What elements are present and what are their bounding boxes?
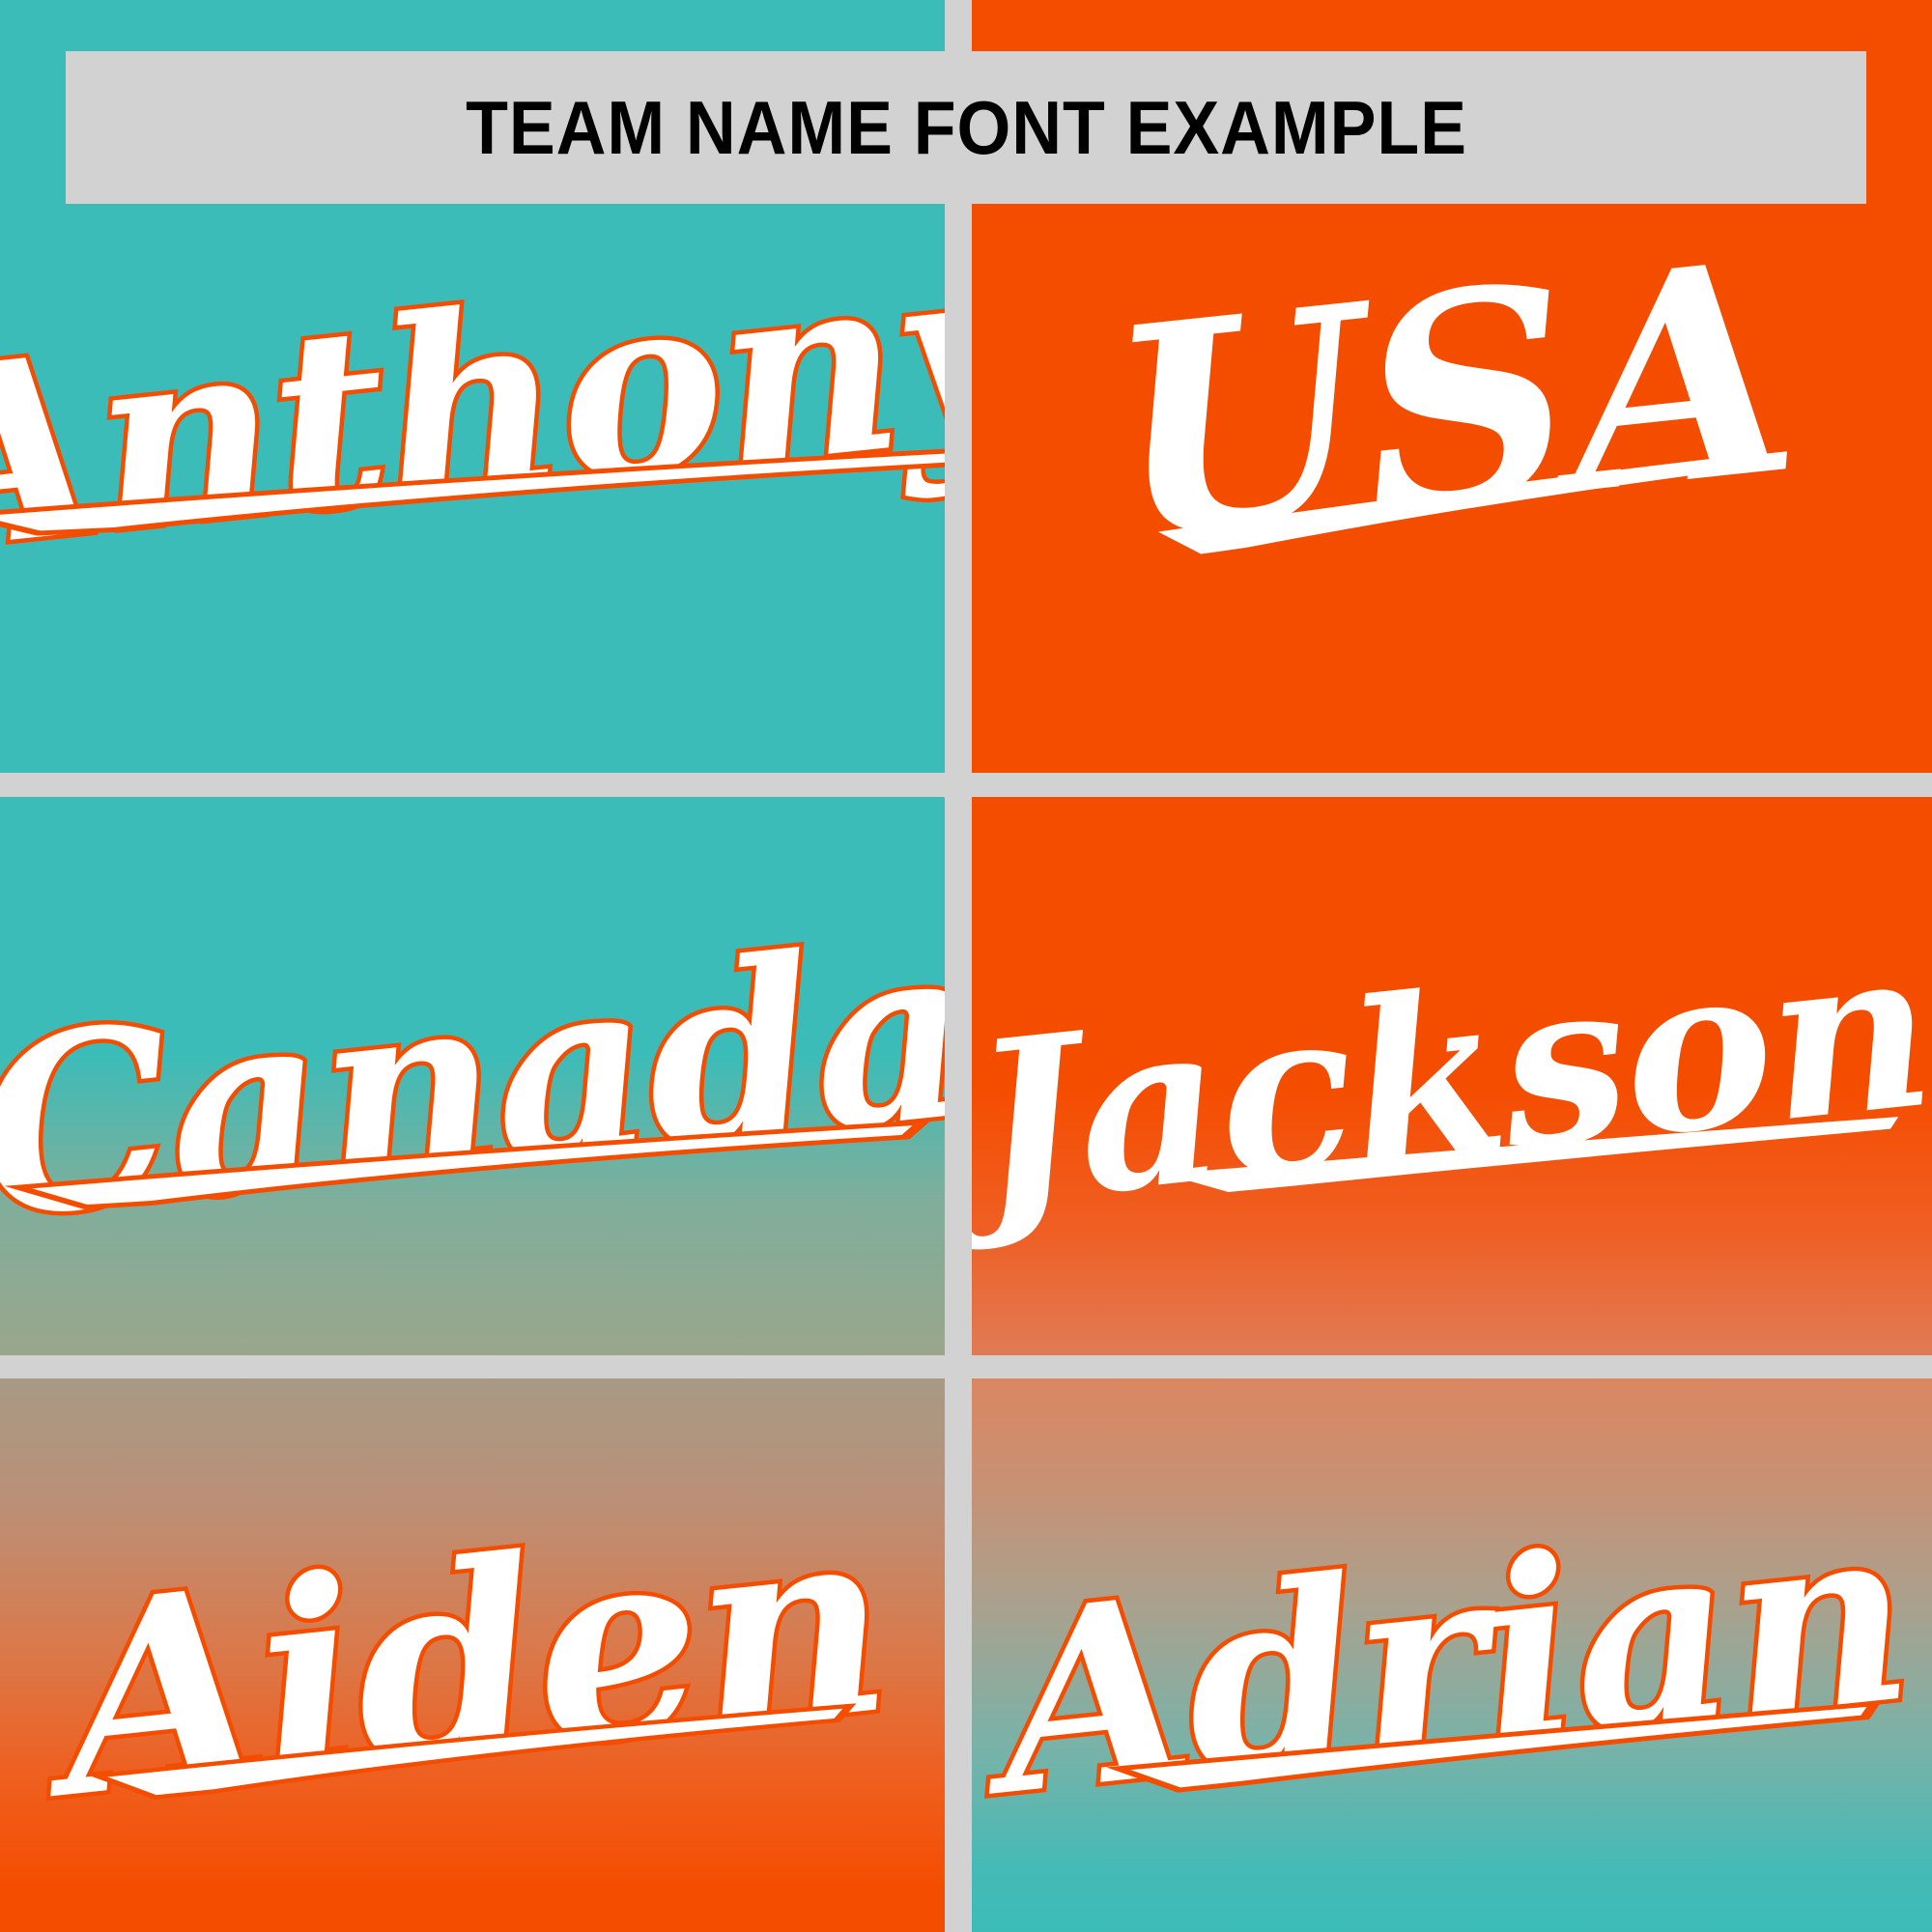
page-title: TEAM NAME FONT EXAMPLE (466, 84, 1467, 172)
team-name-anthony: Anthony (0, 230, 945, 581)
script-wrap-canada: Canada (0, 797, 945, 1355)
sample-cell-jackson[interactable]: Jackson (972, 797, 1932, 1355)
header-banner: TEAM NAME FONT EXAMPLE (66, 51, 1866, 204)
script-wrap-adrian: Adrian (972, 1378, 1932, 1932)
script-wrap-jackson: Jackson (972, 797, 1932, 1355)
team-name-jackson: Jackson (972, 922, 1932, 1232)
team-name-canada: Canada (0, 915, 945, 1246)
sample-cell-canada[interactable]: Canada (0, 797, 945, 1355)
sample-cell-adrian[interactable]: Adrian (972, 1378, 1932, 1932)
font-example-sheet: Anthony USA (0, 0, 1932, 1932)
script-wrap-aiden: Aiden (0, 1378, 945, 1932)
team-name-aiden: Aiden (48, 1493, 896, 1827)
team-name-adrian: Adrian (987, 1496, 1918, 1824)
team-name-usa: USA (1100, 229, 1804, 574)
sample-cell-aiden[interactable]: Aiden (0, 1378, 945, 1932)
